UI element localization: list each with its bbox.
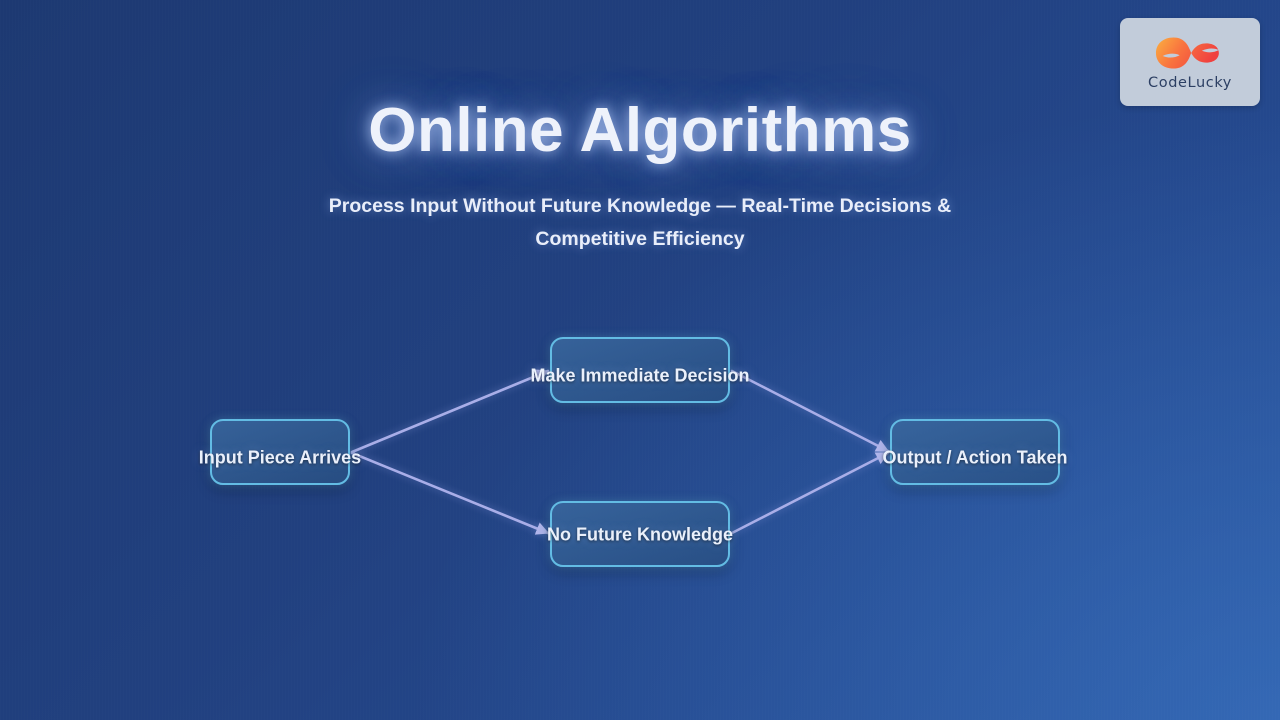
node-input-piece-arrives[interactable] <box>210 419 350 485</box>
edge-input-to-decision <box>352 371 548 452</box>
edge-decision-to-output <box>732 371 888 451</box>
node-make-immediate-decision[interactable] <box>550 337 730 403</box>
node-no-future-knowledge[interactable] <box>550 501 730 567</box>
edge-input-to-nofuture <box>352 453 548 533</box>
flow-diagram: Input Piece Arrives Make Immediate Decis… <box>0 0 1280 720</box>
node-output-action-taken[interactable] <box>890 419 1060 485</box>
edge-nofuture-to-output <box>732 453 888 533</box>
slide-canvas: CodeLucky Online Algorithms Process Inpu… <box>0 0 1280 720</box>
